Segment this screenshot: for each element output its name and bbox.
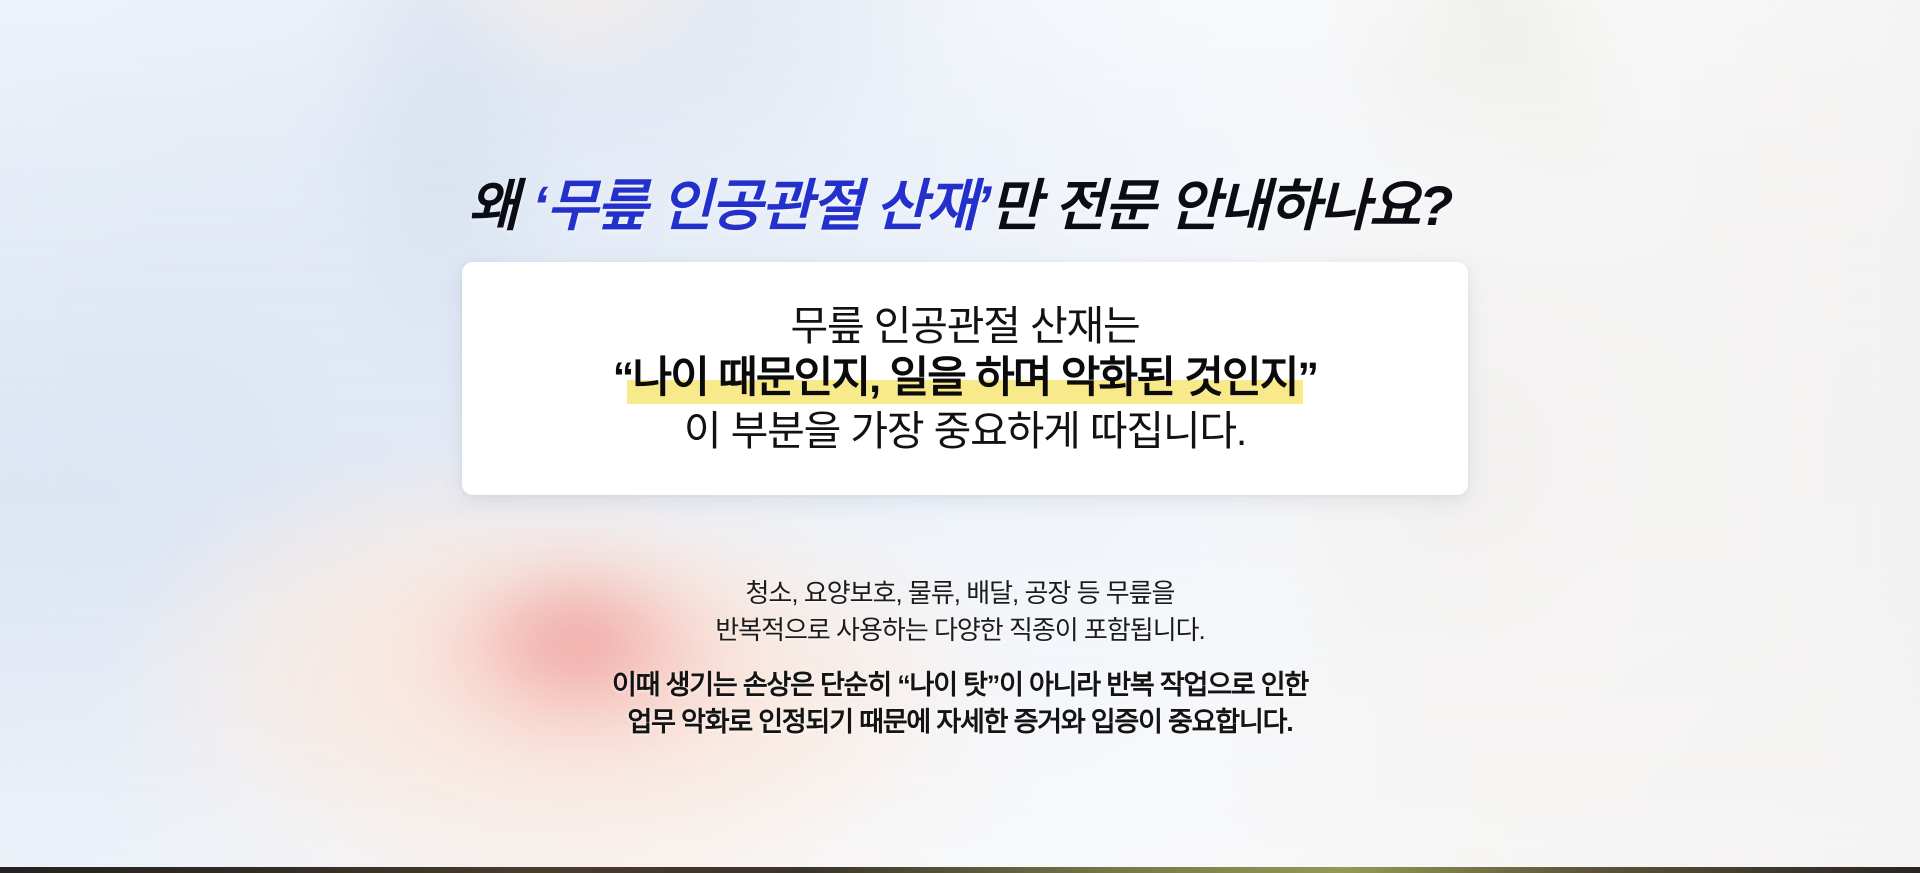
emphasis-line-1: 이때 생기는 손상은 단순히 “나이 탓”이 아니라 반복 작업으로 인한 bbox=[0, 667, 1920, 704]
emphasis-paragraph: 이때 생기는 손상은 단순히 “나이 탓”이 아니라 반복 작업으로 인한 업무… bbox=[0, 667, 1920, 742]
subtext-paragraph: 청소, 요양보호, 물류, 배달, 공장 등 무릎을 반복적으로 사용하는 다양… bbox=[0, 575, 1920, 649]
headline: 왜 ‘무릎 인공관절 산재’만 전문 안내하나요? bbox=[0, 176, 1920, 236]
promo-banner: 왜 ‘무릎 인공관절 산재’만 전문 안내하나요? 무릎 인공관절 산재는 “나… bbox=[0, 0, 1920, 873]
headline-accent-phrase: ‘무릎 인공관절 산재’ bbox=[532, 174, 990, 237]
headline-part-1: 왜 bbox=[468, 174, 532, 237]
subtext-line-1: 청소, 요양보호, 물류, 배달, 공장 등 무릎을 bbox=[0, 575, 1920, 612]
card-line-3: 이 부분을 가장 중요하게 따집니다. bbox=[684, 411, 1246, 452]
card-line-2-container: “나이 때문인지, 일을 하며 악화된 것인지” bbox=[613, 357, 1317, 400]
headline-part-2: 만 전문 안내하나요? bbox=[990, 174, 1452, 237]
statement-card: 무릎 인공관절 산재는 “나이 때문인지, 일을 하며 악화된 것인지” 이 부… bbox=[462, 262, 1468, 495]
banner-content: 왜 ‘무릎 인공관절 산재’만 전문 안내하나요? 무릎 인공관절 산재는 “나… bbox=[0, 0, 1920, 873]
emphasis-line-2: 업무 악화로 인정되기 때문에 자세한 증거와 입증이 중요합니다. bbox=[0, 704, 1920, 741]
subtext-line-2: 반복적으로 사용하는 다양한 직종이 포함됩니다. bbox=[0, 612, 1920, 649]
card-line-2: “나이 때문인지, 일을 하며 악화된 것인지” bbox=[613, 354, 1317, 402]
card-line-1: 무릎 인공관절 산재는 bbox=[790, 306, 1139, 347]
bottom-edge-band bbox=[0, 867, 1920, 873]
